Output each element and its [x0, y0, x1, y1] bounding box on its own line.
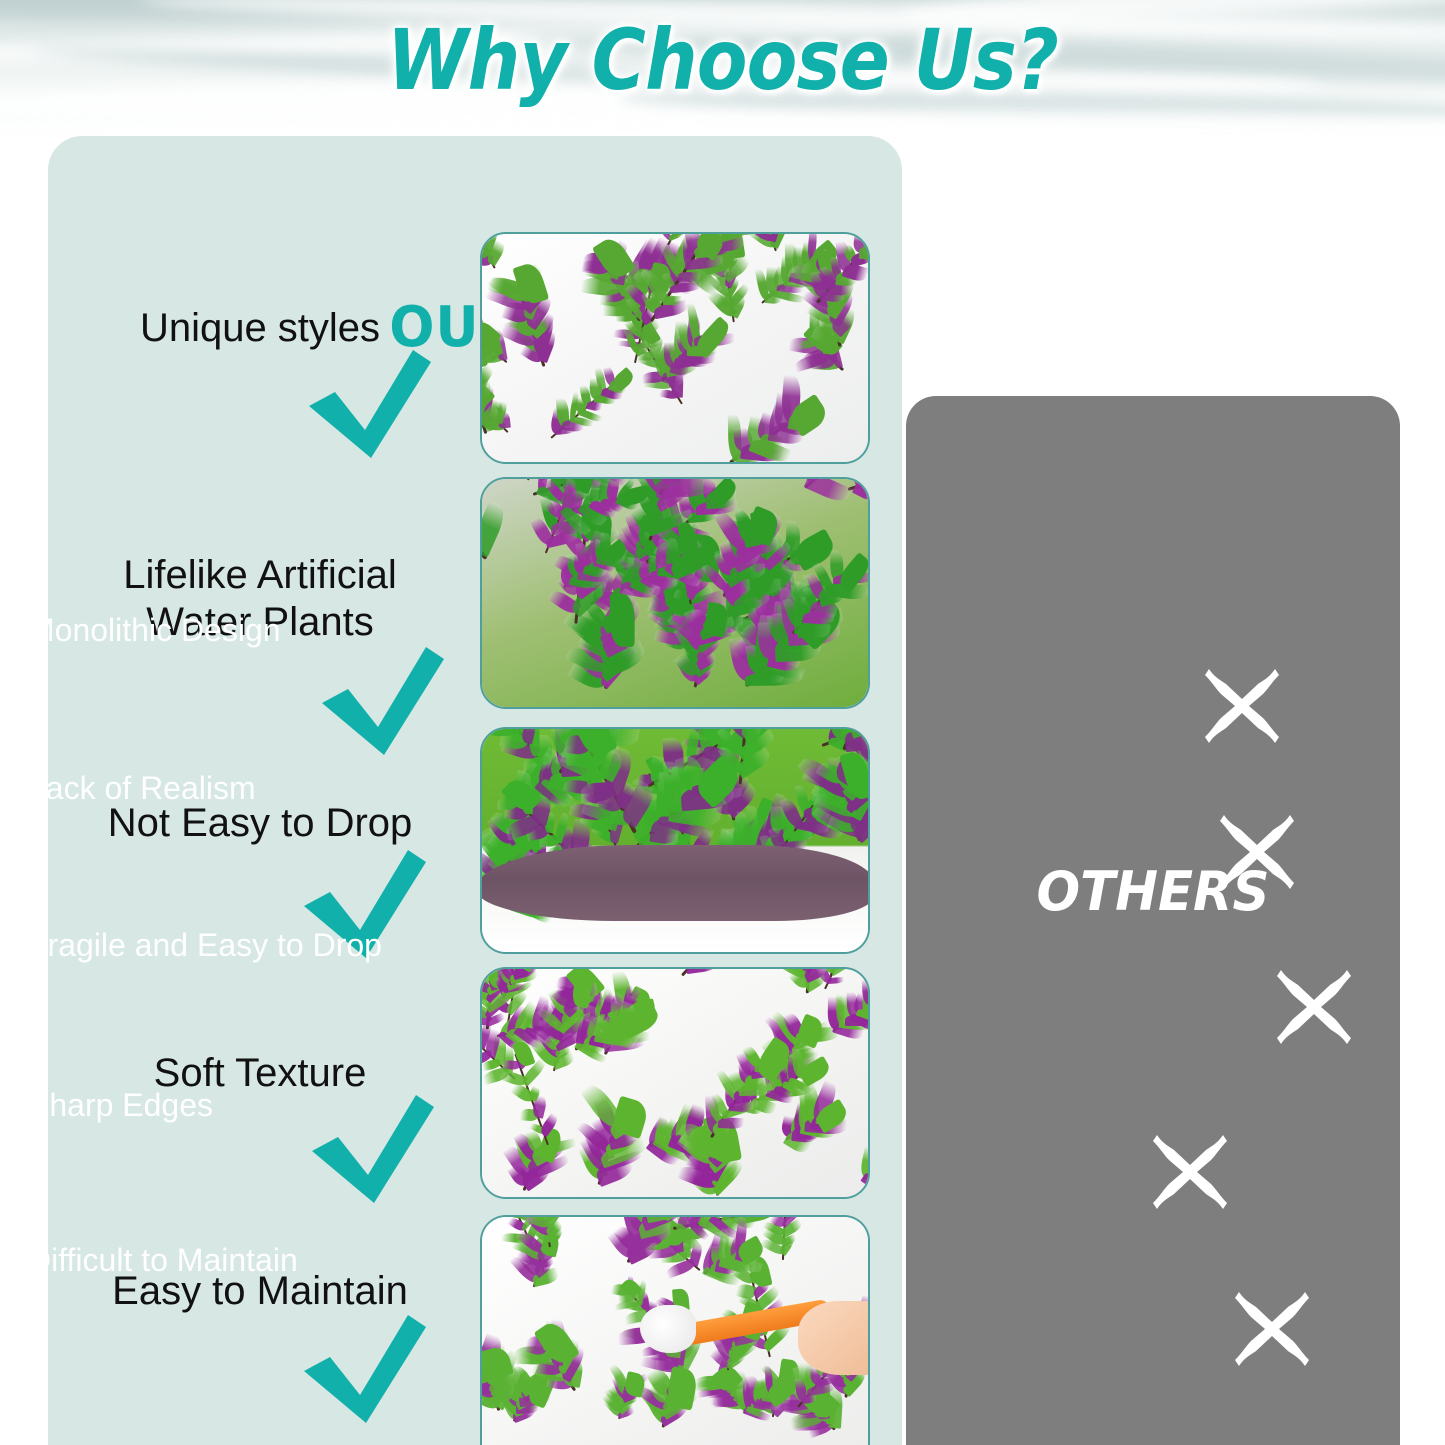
thumbnail-unique-styles: [480, 232, 870, 464]
thumbnail-lifelike-plants: [480, 477, 870, 709]
infographic-root: Why Choose Us? OURS OTHERS Unique styles…: [0, 0, 1445, 1445]
plant-leaf: [663, 296, 682, 305]
other-label: Fragile and Easy to Drop: [0, 925, 494, 965]
others-heading: OTHERS: [918, 864, 1387, 920]
check-mark-icon: [318, 645, 446, 757]
thumbnail-image: [482, 729, 868, 952]
other-label: Lack of Realism: [0, 768, 494, 808]
other-row-difficult-maintain: Difficult to Maintain: [0, 1240, 494, 1280]
other-label: Difficult to Maintain: [0, 1240, 494, 1280]
plant-leaf: [685, 969, 720, 975]
thumbnail-not-easy-to-drop: [480, 727, 870, 954]
other-row-lack-of-realism: Lack of Realism: [0, 768, 494, 808]
thumbnail-easy-to-maintain: [480, 1215, 870, 1445]
feature-label: Unique styles: [60, 305, 460, 352]
brush-bristles: [640, 1305, 696, 1353]
page-title: Why Choose Us?: [87, 12, 1359, 108]
cross-mark-icon: [1148, 1128, 1232, 1212]
thumbnail-image: [482, 234, 868, 462]
plant-leaf: [827, 977, 845, 984]
thumbnail-soft-texture: [480, 967, 870, 1199]
plant-leaf: [803, 479, 851, 506]
plant-leaf: [717, 1117, 744, 1130]
cross-mark-icon: [1272, 963, 1356, 1047]
feature-row-unique-styles: Unique styles: [60, 305, 460, 352]
thumbnail-image: [482, 969, 868, 1197]
other-row-sharp-edges: Sharp Edges: [0, 1085, 494, 1125]
other-row-fragile-easy-drop: Fragile and Easy to Drop: [0, 925, 494, 965]
other-row-monolithic-design: Monolithic Design: [0, 610, 494, 650]
check-mark-icon: [305, 348, 433, 460]
cross-mark-icon: [1200, 662, 1284, 746]
cross-mark-icon: [1230, 1285, 1314, 1369]
others-panel: OTHERS: [906, 396, 1400, 1445]
thumbnail-image: [482, 479, 868, 707]
plant-leaf-tip: [609, 594, 634, 647]
cross-mark-icon: [1215, 808, 1299, 892]
other-label: Sharp Edges: [0, 1085, 494, 1125]
thumbnail-image: [482, 1217, 868, 1445]
resin-rock-base: [482, 845, 868, 921]
plant-leaf: [482, 501, 508, 558]
check-mark-icon: [300, 1313, 428, 1425]
other-label: Monolithic Design: [0, 610, 494, 650]
plant-leaf: [829, 969, 854, 975]
hand: [798, 1301, 868, 1375]
